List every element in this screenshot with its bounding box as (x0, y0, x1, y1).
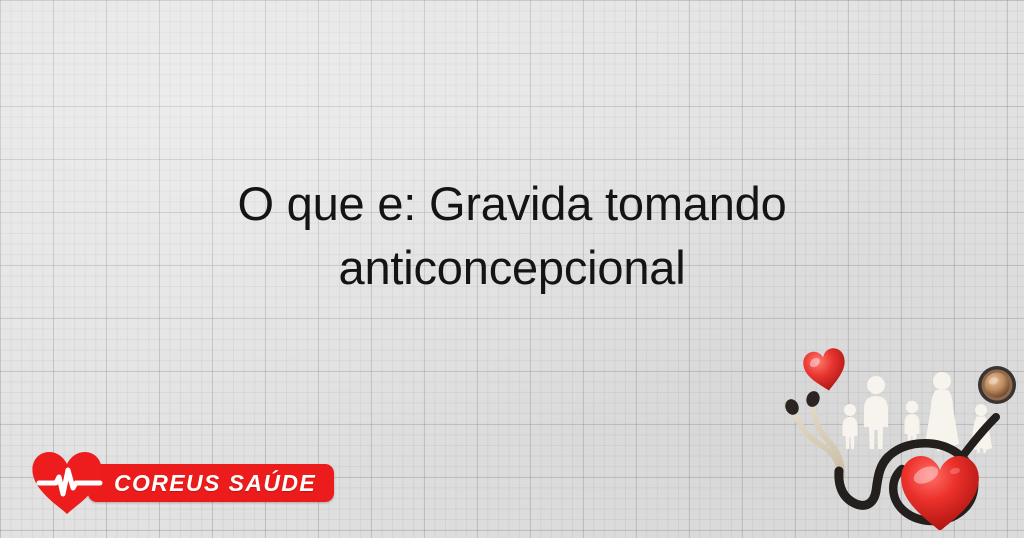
stethoscope-binaural (794, 403, 842, 477)
small-floating-heart (801, 347, 849, 395)
page-title: O que e: Gravida tomando anticoncepciona… (0, 172, 1024, 300)
heart-with-ecg-pulse-icon (30, 450, 104, 516)
stethoscope-chestpiece (978, 366, 1016, 404)
page-title-line-1: O que e: Gravida tomando (60, 172, 964, 236)
page-title-line-2: anticoncepcional (60, 236, 964, 300)
health-collage-graphic (776, 345, 1024, 530)
slide-canvas: O que e: Gravida tomando anticoncepciona… (0, 0, 1024, 538)
brand-name-badge: COREUS SAÚDE (88, 464, 334, 502)
brand-name-text: COREUS SAÚDE (114, 470, 316, 497)
brand-logo[interactable]: COREUS SAÚDE (30, 450, 334, 516)
